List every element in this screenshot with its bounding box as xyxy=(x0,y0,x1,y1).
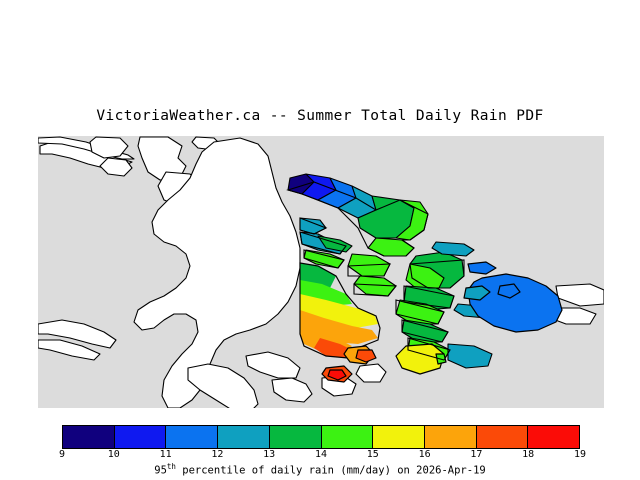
colorbar-segment-2 xyxy=(166,426,218,448)
colorbar-tick-7: 16 xyxy=(405,449,445,460)
weather-map-page: VictoriaWeather.ca -- Summer Total Daily… xyxy=(0,0,640,480)
colorbar-tick-1: 10 xyxy=(94,449,134,460)
colorbar-caption-prefix: 95 xyxy=(154,465,167,477)
colorbar-segment-6 xyxy=(373,426,425,448)
colorbar-tick-5: 14 xyxy=(301,449,341,460)
colorbar-segment-3 xyxy=(218,426,270,448)
colorbar-tick-10: 19 xyxy=(560,449,600,460)
colorbar-segment-8 xyxy=(477,426,529,448)
colorbar-segment-9 xyxy=(528,426,579,448)
map-canvas xyxy=(0,128,640,410)
colorbar-segment-0 xyxy=(63,426,115,448)
page-title: VictoriaWeather.ca -- Summer Total Daily… xyxy=(0,108,640,124)
colorbar-tick-6: 15 xyxy=(353,449,393,460)
map-graphic xyxy=(0,128,640,410)
colorbar-ticks: 9 10 11 12 13 14 15 16 17 18 19 xyxy=(62,449,580,463)
colorbar-legend: 9 10 11 12 13 14 15 16 17 18 19 95th per… xyxy=(0,420,640,480)
colorbar-gradient xyxy=(62,425,580,449)
colorbar-tick-0: 9 xyxy=(42,449,82,460)
colorbar-segment-1 xyxy=(115,426,167,448)
colorbar-caption: 95th percentile of daily rain (mm/day) o… xyxy=(0,462,640,477)
colorbar-tick-2: 11 xyxy=(146,449,186,460)
colorbar-caption-rest: percentile of daily rain (mm/day) on 202… xyxy=(176,465,486,477)
colorbar-segment-4 xyxy=(270,426,322,448)
colorbar-segment-5 xyxy=(322,426,374,448)
colorbar-tick-4: 13 xyxy=(249,449,289,460)
colorbar-segment-7 xyxy=(425,426,477,448)
colorbar-caption-superscript: th xyxy=(167,462,176,471)
colorbar-tick-9: 18 xyxy=(508,449,548,460)
colorbar-tick-8: 17 xyxy=(456,449,496,460)
colorbar-tick-3: 12 xyxy=(197,449,237,460)
